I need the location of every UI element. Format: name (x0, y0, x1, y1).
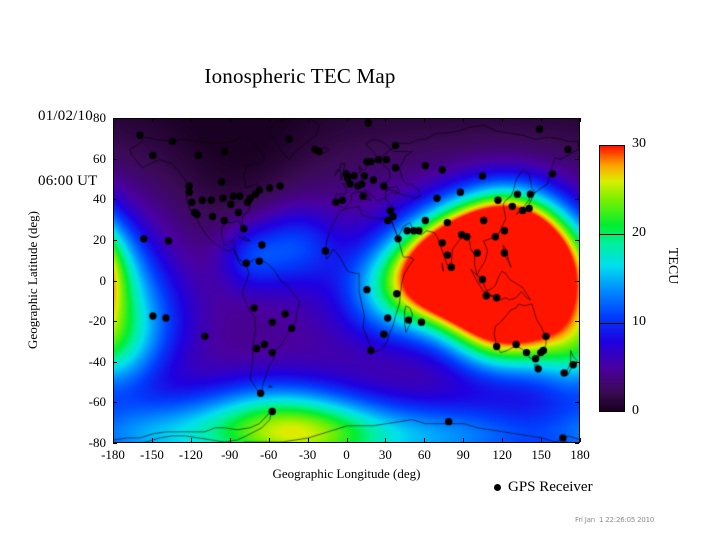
y-tick-right (575, 118, 579, 119)
y-tick-right (575, 321, 579, 322)
x-tick-top (580, 118, 581, 122)
y-tick-right (575, 199, 579, 200)
legend-label: GPS Receiver (508, 479, 593, 496)
y-tick-label: 20 (66, 232, 106, 248)
colorbar (599, 145, 625, 412)
colorbar-tick (599, 234, 625, 235)
y-tick-right (575, 159, 579, 160)
colorbar-tick (599, 323, 625, 324)
x-tick (541, 438, 542, 442)
x-tick (502, 438, 503, 442)
colorbar-tick-label: 30 (632, 136, 646, 152)
x-tick (580, 438, 581, 442)
colorbar-title: TECU (664, 206, 680, 326)
x-tick (385, 438, 386, 442)
y-tick (113, 118, 117, 119)
x-tick-top (347, 118, 348, 122)
y-tick-label: 60 (66, 151, 106, 167)
y-tick-right (575, 281, 579, 282)
x-tick-top (308, 118, 309, 122)
x-tick-top (463, 118, 464, 122)
y-tick-label: -20 (66, 313, 106, 329)
colorbar-tick-label: 0 (632, 403, 639, 419)
x-tick-top (230, 118, 231, 122)
x-tick-top (385, 118, 386, 122)
y-tick (113, 281, 117, 282)
y-tick-label: -80 (66, 435, 106, 451)
x-tick (424, 438, 425, 442)
legend: GPS Receiver (494, 479, 593, 496)
page-title: Ionospheric TEC Map (0, 64, 600, 89)
y-tick-right (575, 402, 579, 403)
x-tick-top (191, 118, 192, 122)
x-tick (113, 438, 114, 442)
x-tick-top (424, 118, 425, 122)
y-tick (113, 402, 117, 403)
x-tick (463, 438, 464, 442)
y-tick (113, 240, 117, 241)
y-tick-label: 80 (66, 110, 106, 126)
x-tick-label: 180 (550, 447, 610, 463)
x-tick (230, 438, 231, 442)
colorbar-tick-label: 10 (632, 314, 646, 330)
y-tick (113, 159, 117, 160)
render-timestamp: Fri Jan 1 22:26:05 2010 (575, 516, 654, 524)
y-tick (113, 199, 117, 200)
x-tick-top (152, 118, 153, 122)
y-tick-label: 40 (66, 191, 106, 207)
figure-root: 01/02/10 06:00 UT Ionospheric TEC Map -1… (0, 0, 720, 540)
y-tick-right (575, 240, 579, 241)
y-tick-label: -60 (66, 394, 106, 410)
y-tick-label: -40 (66, 354, 106, 370)
x-tick (191, 438, 192, 442)
y-tick (113, 443, 117, 444)
colorbar-gradient (600, 146, 624, 411)
colorbar-tick-label: 20 (632, 225, 646, 241)
x-tick (269, 438, 270, 442)
x-tick-top (541, 118, 542, 122)
x-tick (308, 438, 309, 442)
time-text: 06:00 UT (38, 171, 98, 193)
x-tick-top (502, 118, 503, 122)
gps-receiver-marker-icon (494, 484, 501, 491)
y-tick (113, 362, 117, 363)
y-axis-title: Geographic Latitude (deg) (25, 170, 41, 390)
x-tick (152, 438, 153, 442)
y-tick-right (575, 443, 579, 444)
y-tick (113, 321, 117, 322)
coastline-and-receivers-canvas (114, 119, 580, 443)
y-tick-label: 0 (66, 273, 106, 289)
x-tick-top (269, 118, 270, 122)
tec-map-plot (113, 118, 580, 443)
y-tick-right (575, 362, 579, 363)
x-tick (347, 438, 348, 442)
